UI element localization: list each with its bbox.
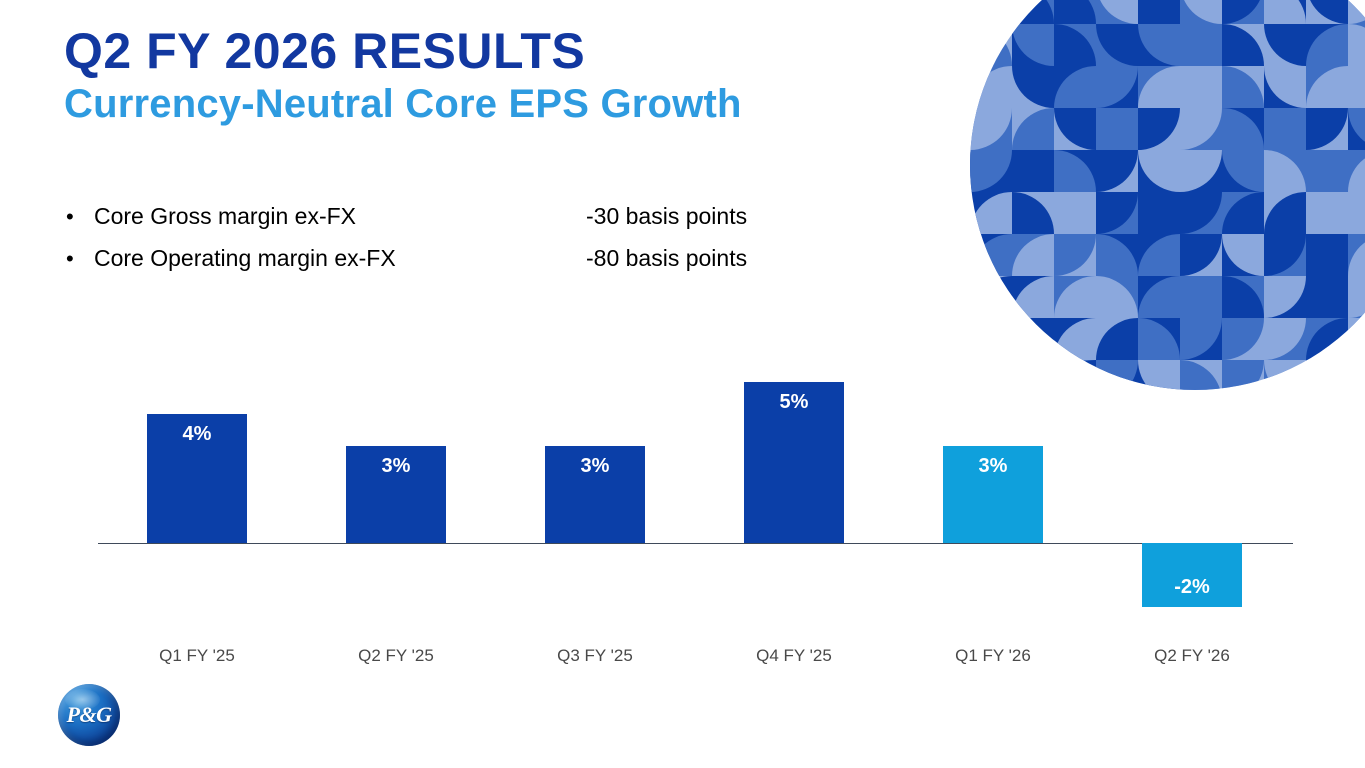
- motif-tile: [970, 0, 1012, 24]
- motif-arc: [1306, 234, 1348, 276]
- motif-arc: [1306, 108, 1348, 150]
- motif-tile: [1222, 318, 1264, 360]
- motif-arc: [1348, 0, 1365, 24]
- motif-arc: [1138, 24, 1180, 66]
- motif-tile: [1306, 360, 1348, 390]
- motif-arc: [1138, 360, 1180, 390]
- motif-arc: [1096, 0, 1138, 24]
- motif-tile: [970, 360, 1012, 390]
- motif-arc: [1012, 276, 1054, 318]
- motif-arc: [1264, 24, 1306, 66]
- bullet-marker-icon: •: [66, 248, 94, 270]
- chart-bar: -2%: [1142, 543, 1242, 607]
- motif-arc: [1012, 66, 1054, 108]
- motif-tile: [1054, 360, 1096, 390]
- motif-tile: [1054, 108, 1096, 150]
- motif-tile: [1096, 0, 1138, 24]
- motif-arc: [1348, 24, 1365, 66]
- bar-value-label: -2%: [1142, 576, 1242, 599]
- motif-arc: [1012, 234, 1054, 276]
- motif-tile: [1264, 150, 1306, 192]
- bullet-marker-icon: •: [66, 206, 94, 228]
- motif-arc: [1138, 318, 1180, 360]
- motif-tile: [1180, 192, 1222, 234]
- motif-tile: [1012, 24, 1054, 66]
- motif-tile: [1306, 24, 1348, 66]
- chart-bar: 3%: [346, 446, 446, 543]
- motif-tile: [1138, 192, 1180, 234]
- chart-plot-area: [98, 360, 1293, 550]
- motif-tile: [1138, 0, 1180, 24]
- motif-tile: [970, 318, 1012, 360]
- motif-tile: [1348, 0, 1365, 24]
- motif-arc: [1348, 276, 1365, 318]
- motif-arc: [1264, 318, 1306, 360]
- motif-tile: [1348, 150, 1365, 192]
- motif-tile: [1348, 108, 1365, 150]
- motif-tile: [1096, 360, 1138, 390]
- motif-tile: [1138, 318, 1180, 360]
- motif-arc: [1222, 276, 1264, 318]
- motif-arc: [1138, 0, 1180, 24]
- motif-arc: [1096, 24, 1138, 66]
- motif-tile: [970, 24, 1012, 66]
- motif-tile: [1054, 318, 1096, 360]
- motif-tile: [1138, 276, 1180, 318]
- bullet-row: • Core Operating margin ex-FX -80 basis …: [66, 245, 966, 287]
- motif-arc: [1264, 234, 1306, 276]
- category-label: Q2 FY '26: [1112, 646, 1272, 666]
- motif-tile: [1096, 24, 1138, 66]
- chart-bar: 5%: [744, 382, 844, 543]
- bar-value-label: 3%: [545, 455, 645, 478]
- motif-arc: [1054, 318, 1096, 360]
- motif-arc: [1306, 24, 1348, 66]
- motif-tile: [970, 108, 1012, 150]
- motif-tile: [1348, 318, 1365, 360]
- motif-arc: [1264, 66, 1306, 108]
- motif-arc: [970, 66, 1012, 108]
- motif-tile: [1222, 66, 1264, 108]
- motif-tile: [1096, 276, 1138, 318]
- category-label: Q1 FY '25: [117, 646, 277, 666]
- motif-tile: [1012, 66, 1054, 108]
- motif-arc: [1138, 66, 1180, 108]
- motif-tile: [1264, 0, 1306, 24]
- motif-arc: [1138, 276, 1180, 318]
- motif-arc: [1054, 66, 1096, 108]
- motif-tile: [1348, 276, 1365, 318]
- motif-arc: [1096, 192, 1138, 234]
- logo-wordmark: P&G: [58, 684, 120, 746]
- motif-arc: [1096, 66, 1138, 108]
- motif-tile: [1054, 192, 1096, 234]
- motif-tile: [1264, 24, 1306, 66]
- motif-arc: [1348, 318, 1365, 360]
- motif-tile: [1264, 108, 1306, 150]
- motif-tile: [1222, 24, 1264, 66]
- bar-value-label: 3%: [943, 455, 1043, 478]
- motif-tile: [1054, 24, 1096, 66]
- bar-value-label: 5%: [744, 391, 844, 414]
- motif-arc: [1180, 234, 1222, 276]
- motif-tile: [970, 150, 1012, 192]
- title-block: Q2 FY 2026 RESULTS Currency-Neutral Core…: [64, 24, 742, 127]
- motif-arc: [1348, 66, 1365, 108]
- motif-tile: [970, 192, 1012, 234]
- motif-tile: [1012, 276, 1054, 318]
- motif-arc: [1222, 108, 1264, 150]
- bullet-row: • Core Gross margin ex-FX -30 basis poin…: [66, 203, 966, 245]
- motif-arc: [1222, 0, 1264, 24]
- category-label: Q3 FY '25: [515, 646, 675, 666]
- motif-arc: [1180, 360, 1222, 390]
- motif-arc: [1054, 234, 1096, 276]
- motif-arc: [1222, 66, 1264, 108]
- pg-logo: P&G: [58, 684, 120, 746]
- chart-bar: 3%: [545, 446, 645, 543]
- motif-tile: [1180, 24, 1222, 66]
- motif-tile: [1012, 318, 1054, 360]
- motif-tile: [1054, 150, 1096, 192]
- motif-arc: [970, 318, 1012, 360]
- motif-tile: [1306, 192, 1348, 234]
- motif-arc: [1054, 24, 1096, 66]
- motif-arc: [1054, 276, 1096, 318]
- motif-arc: [1348, 360, 1365, 390]
- motif-tile: [1348, 66, 1365, 108]
- motif-tile: [1222, 276, 1264, 318]
- motif-tile: [1348, 24, 1365, 66]
- motif-arc: [970, 360, 1012, 390]
- motif-tile: [1264, 276, 1306, 318]
- motif-arc: [1348, 192, 1365, 234]
- motif-tile: [1054, 0, 1096, 24]
- motif-tile: [1306, 66, 1348, 108]
- category-label: Q4 FY '25: [714, 646, 874, 666]
- motif-arc: [1180, 24, 1222, 66]
- motif-arc: [1096, 150, 1138, 192]
- motif-tile: [1348, 192, 1365, 234]
- motif-tile: [1222, 150, 1264, 192]
- motif-arc: [1012, 0, 1054, 24]
- motif-arc: [970, 234, 1012, 276]
- motif-tile: [1012, 360, 1054, 390]
- motif-arc: [1096, 360, 1138, 390]
- bullet-list: • Core Gross margin ex-FX -30 basis poin…: [66, 203, 966, 287]
- motif-tile: [1306, 0, 1348, 24]
- motif-arc: [1264, 192, 1306, 234]
- motif-tile: [1264, 192, 1306, 234]
- motif-arc: [1012, 192, 1054, 234]
- page-title: Q2 FY 2026 RESULTS: [64, 24, 742, 78]
- motif-tile: [1138, 234, 1180, 276]
- motif-arc: [1306, 192, 1348, 234]
- motif-arc: [1222, 234, 1264, 276]
- motif-tile: [1306, 318, 1348, 360]
- motif-tile: [1012, 234, 1054, 276]
- motif-arc: [1138, 108, 1180, 150]
- motif-arc: [970, 0, 1012, 24]
- motif-arc: [1222, 24, 1264, 66]
- motif-arc: [1306, 276, 1348, 318]
- motif-arc: [1054, 108, 1096, 150]
- motif-arc: [1264, 276, 1306, 318]
- motif-arc: [1180, 108, 1222, 150]
- motif-arc: [1348, 108, 1365, 150]
- motif-arc: [1138, 234, 1180, 276]
- motif-tile: [1222, 108, 1264, 150]
- motif-tile: [970, 234, 1012, 276]
- corner-decoration-motif: [970, 0, 1365, 390]
- motif-arc: [1096, 276, 1138, 318]
- motif-arc: [1306, 360, 1348, 390]
- motif-tile: [1264, 318, 1306, 360]
- chart-bar: 4%: [147, 414, 247, 543]
- bullet-value: -80 basis points: [586, 245, 747, 272]
- motif-tile: [1012, 150, 1054, 192]
- motif-arc: [1012, 150, 1054, 192]
- motif-tile: [1306, 234, 1348, 276]
- motif-tile: [1264, 360, 1306, 390]
- motif-tile: [1306, 108, 1348, 150]
- motif-tile: [1306, 276, 1348, 318]
- motif-tile: [1264, 234, 1306, 276]
- motif-tile: [1222, 0, 1264, 24]
- motif-tile: [1138, 24, 1180, 66]
- motif-arc: [970, 192, 1012, 234]
- motif-arc: [1054, 0, 1096, 24]
- motif-arc: [1222, 360, 1264, 390]
- motif-tile: [1222, 360, 1264, 390]
- motif-tile: [1180, 108, 1222, 150]
- motif-arc: [1138, 192, 1180, 234]
- motif-tile: [1138, 66, 1180, 108]
- motif-tile: [1096, 66, 1138, 108]
- motif-tile: [1054, 276, 1096, 318]
- bullet-value: -30 basis points: [586, 203, 747, 230]
- motif-arc: [1012, 24, 1054, 66]
- motif-tile: [1054, 66, 1096, 108]
- motif-arc: [1180, 0, 1222, 24]
- motif-tile: [1348, 234, 1365, 276]
- motif-tile: [1012, 108, 1054, 150]
- motif-arc: [1180, 318, 1222, 360]
- motif-arc: [1096, 234, 1138, 276]
- motif-arc: [1264, 360, 1306, 390]
- bar-value-label: 4%: [147, 423, 247, 446]
- motif-arc: [1222, 318, 1264, 360]
- motif-arc: [970, 108, 1012, 150]
- zero-axis-line: [98, 543, 1293, 544]
- page-subtitle: Currency-Neutral Core EPS Growth: [64, 82, 742, 127]
- motif-tile: [1180, 318, 1222, 360]
- motif-arc: [1306, 318, 1348, 360]
- motif-tile: [1096, 108, 1138, 150]
- motif-tile: [1138, 108, 1180, 150]
- motif-tile: [970, 276, 1012, 318]
- motif-tile: [1096, 150, 1138, 192]
- motif-arc: [1348, 150, 1365, 192]
- motif-arc: [1222, 150, 1264, 192]
- bullet-label: Core Gross margin ex-FX: [94, 203, 586, 230]
- bullet-label: Core Operating margin ex-FX: [94, 245, 586, 272]
- motif-arc: [970, 150, 1012, 192]
- bar-value-label: 3%: [346, 455, 446, 478]
- motif-tile: [1180, 0, 1222, 24]
- motif-tile: [1180, 234, 1222, 276]
- motif-tile: [1180, 276, 1222, 318]
- motif-tile: [1138, 150, 1180, 192]
- motif-arc: [1096, 108, 1138, 150]
- motif-tile: [1180, 360, 1222, 390]
- motif-pattern-grid: [970, 0, 1365, 390]
- motif-arc: [1306, 0, 1348, 24]
- motif-tile: [1180, 150, 1222, 192]
- motif-tile: [1096, 234, 1138, 276]
- motif-arc: [1180, 276, 1222, 318]
- category-label: Q1 FY '26: [913, 646, 1073, 666]
- motif-tile: [1096, 192, 1138, 234]
- motif-tile: [1180, 66, 1222, 108]
- motif-arc: [1138, 150, 1180, 192]
- motif-tile: [1222, 234, 1264, 276]
- motif-arc: [1264, 108, 1306, 150]
- motif-tile: [1306, 150, 1348, 192]
- motif-arc: [1180, 150, 1222, 192]
- motif-tile: [970, 66, 1012, 108]
- motif-arc: [1012, 360, 1054, 390]
- motif-arc: [970, 276, 1012, 318]
- motif-arc: [1096, 318, 1138, 360]
- motif-arc: [1054, 360, 1096, 390]
- motif-tile: [1054, 234, 1096, 276]
- motif-tile: [1012, 192, 1054, 234]
- motif-arc: [1012, 108, 1054, 150]
- motif-arc: [970, 24, 1012, 66]
- motif-tile: [1138, 360, 1180, 390]
- motif-arc: [1054, 192, 1096, 234]
- motif-arc: [1264, 150, 1306, 192]
- motif-arc: [1180, 66, 1222, 108]
- motif-arc: [1180, 192, 1222, 234]
- motif-arc: [1222, 192, 1264, 234]
- motif-tile: [1348, 360, 1365, 390]
- motif-arc: [1306, 66, 1348, 108]
- motif-arc: [1012, 318, 1054, 360]
- motif-tile: [1096, 318, 1138, 360]
- category-label: Q2 FY '25: [316, 646, 476, 666]
- motif-arc: [1054, 150, 1096, 192]
- motif-arc: [1264, 0, 1306, 24]
- motif-tile: [1264, 66, 1306, 108]
- motif-tile: [1222, 192, 1264, 234]
- motif-tile: [1012, 0, 1054, 24]
- chart-bar: 3%: [943, 446, 1043, 543]
- motif-arc: [1306, 150, 1348, 192]
- motif-arc: [1348, 234, 1365, 276]
